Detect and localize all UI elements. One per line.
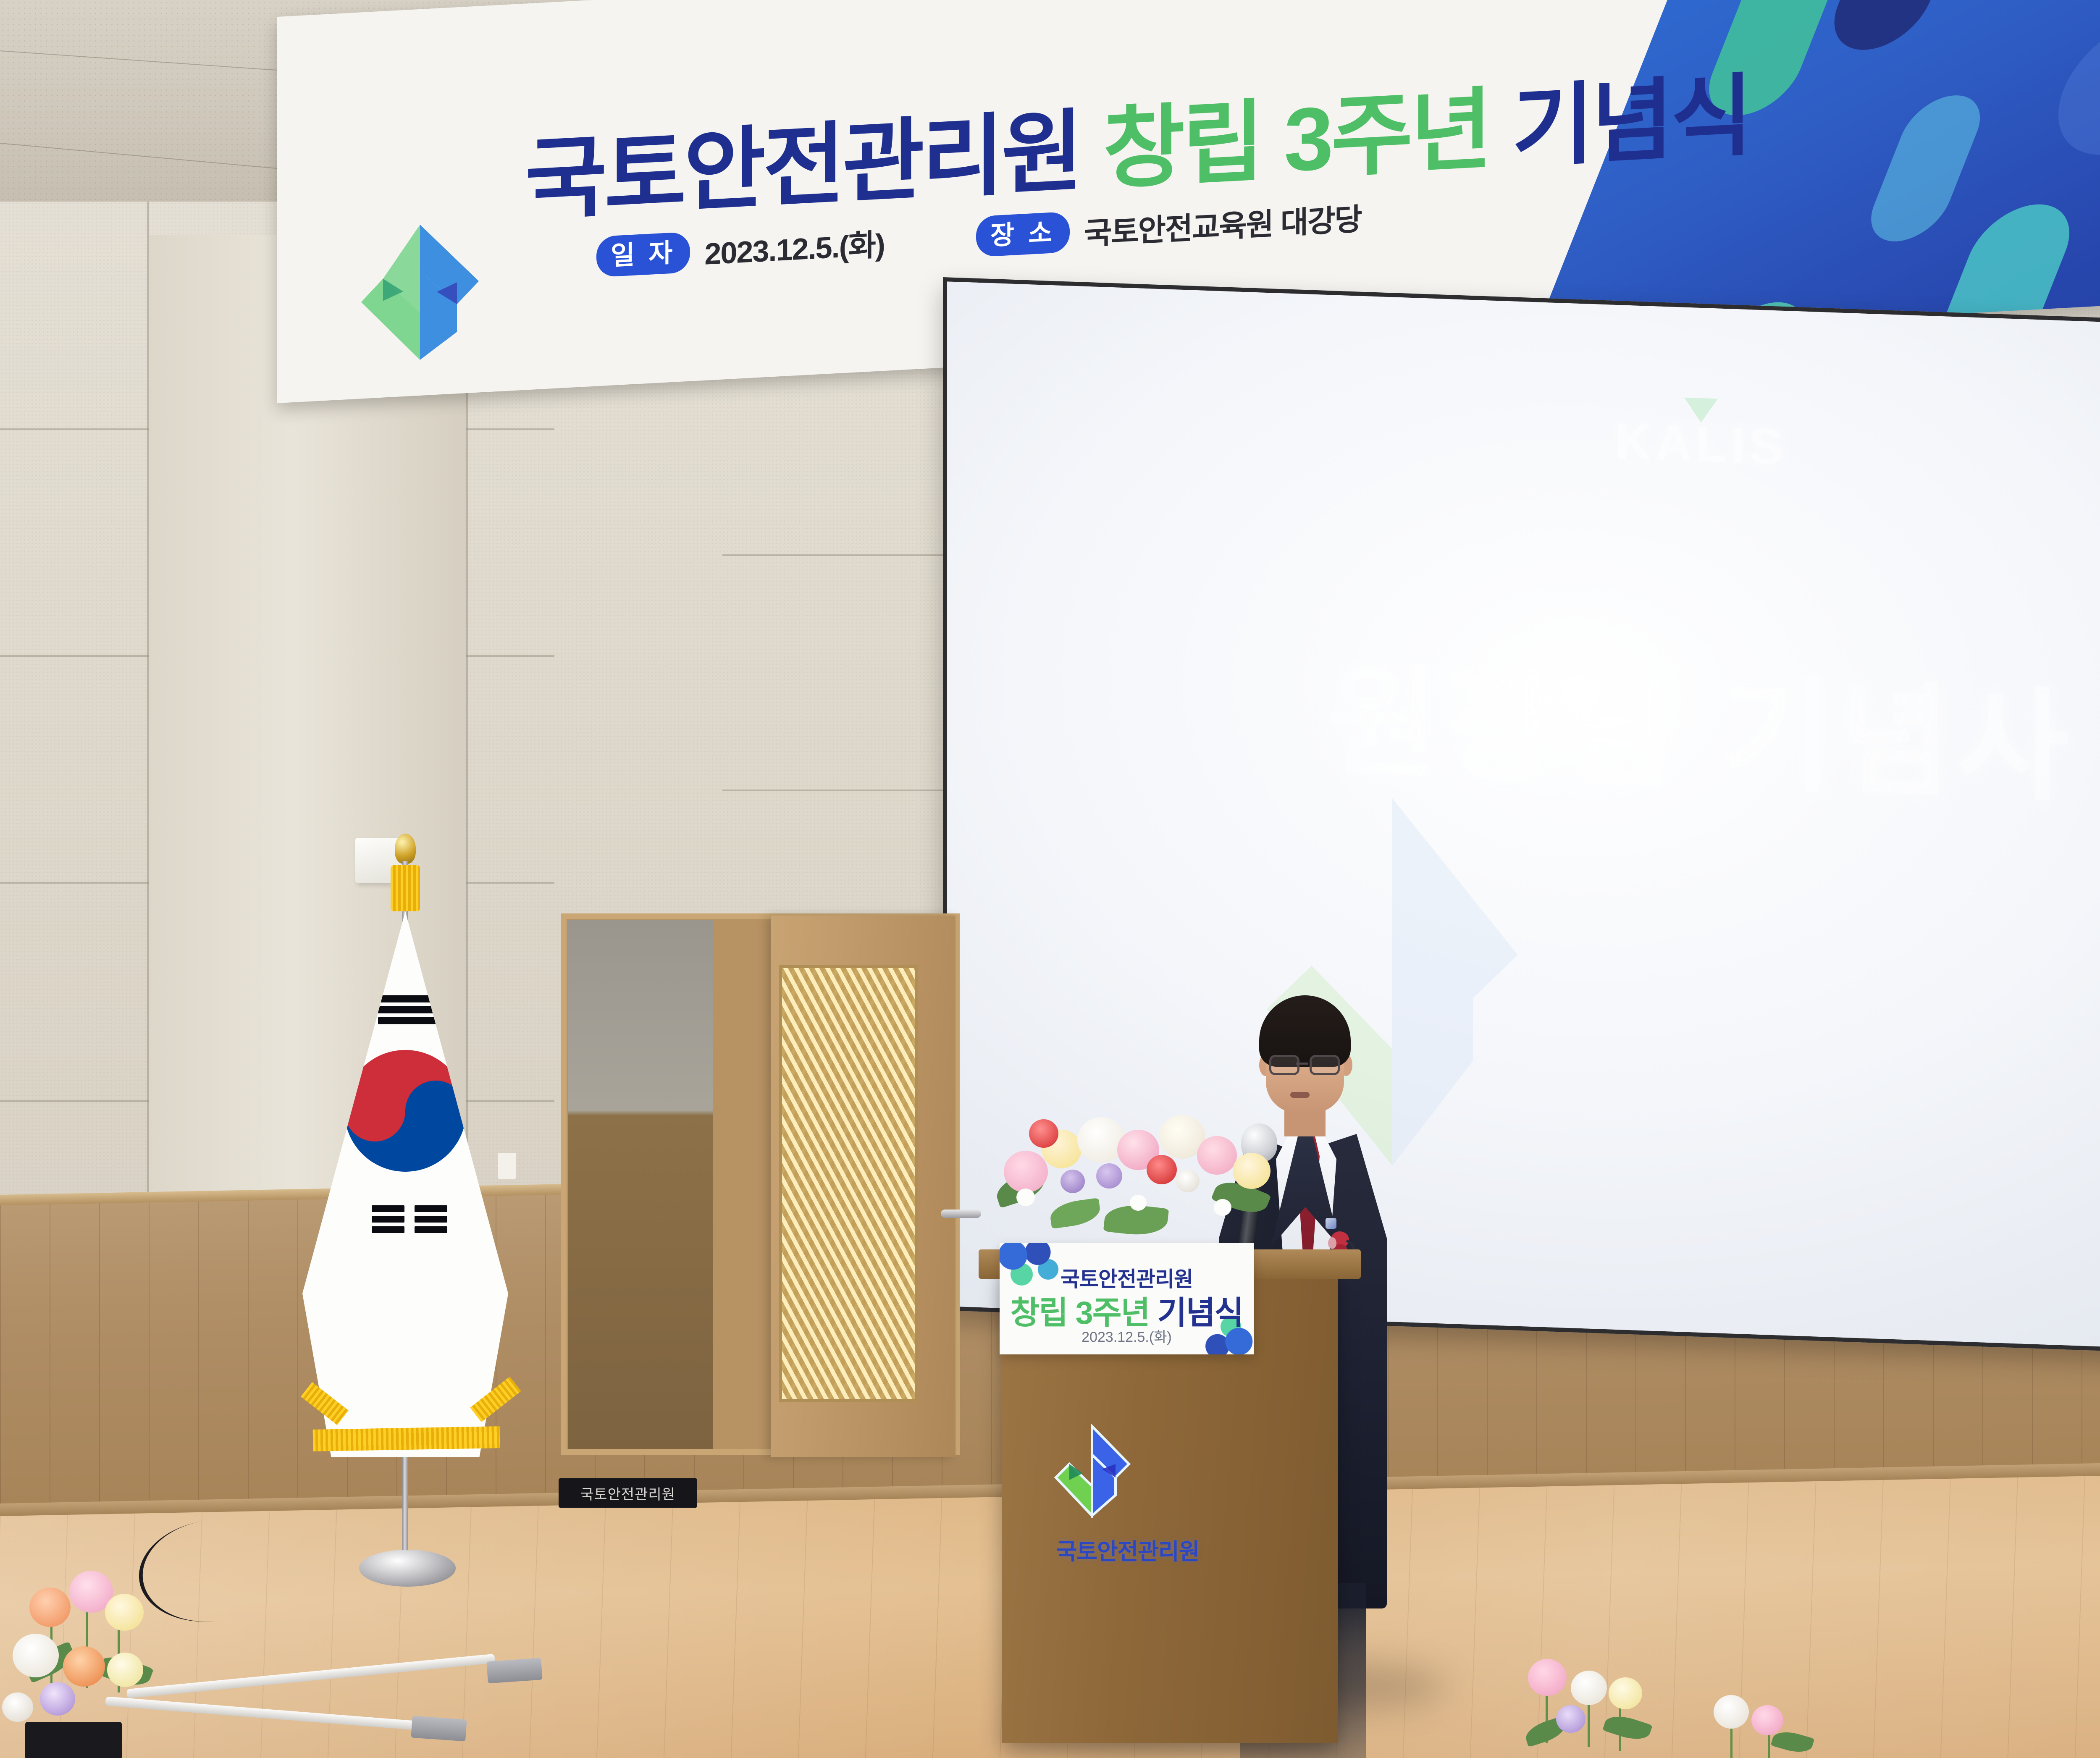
cable-anchor-plate bbox=[411, 1716, 467, 1742]
door-handle[interactable] bbox=[941, 1210, 981, 1218]
door-sign: 국토안전관리원 bbox=[559, 1478, 697, 1508]
banner-pill-shape bbox=[1819, 0, 1983, 52]
eyeglasses-right-lens bbox=[1310, 1055, 1340, 1075]
kalis-arrow-logo bbox=[357, 218, 483, 363]
lapel-pin bbox=[1326, 1218, 1336, 1229]
banner-title-anniversary: 창립 3주년 bbox=[1103, 79, 1490, 199]
wall-outlet-small bbox=[498, 1153, 516, 1179]
podium-flower-bouquet bbox=[979, 1100, 1289, 1268]
flagpole-finial bbox=[395, 834, 416, 864]
banner-title-org: 국토안전관리원 bbox=[525, 101, 1081, 231]
mouth bbox=[1290, 1092, 1310, 1098]
floor-flower-bouquet-right2 bbox=[1697, 1692, 1823, 1758]
flag-gold-fringe bbox=[313, 1426, 500, 1451]
kalis-arrow-logo bbox=[1050, 1424, 1134, 1518]
photo-scene: 국토안전관리원 창립 3주년 기념식 일 자 2023.12.5.(화) 장 소… bbox=[0, 0, 2100, 1758]
podium-sign-date: 2023.12.5.(화) bbox=[1000, 1325, 1254, 1346]
flag-gold-tassel bbox=[391, 865, 420, 911]
date-value: 2023.12.5.(화) bbox=[704, 220, 885, 273]
floor-flower-bouquet-right bbox=[1508, 1650, 1667, 1758]
trigram-gon bbox=[372, 1205, 447, 1234]
podium-front-label: 국토안전관리원 bbox=[1004, 1533, 1252, 1566]
flower-pot bbox=[25, 1722, 122, 1758]
banner-title-ceremony: 기념식 bbox=[1512, 66, 1750, 178]
date-chip: 일 자 bbox=[596, 232, 690, 278]
cable-anchor-plate bbox=[486, 1658, 542, 1684]
eyeglasses-left-lens bbox=[1269, 1055, 1299, 1075]
door-sign-label: 국토안전관리원 bbox=[580, 1483, 675, 1503]
door-textured-glass-panel bbox=[779, 965, 918, 1402]
banner-pill-shape bbox=[1859, 93, 1992, 243]
open-doorway bbox=[568, 920, 713, 1449]
flag-stand-base bbox=[359, 1550, 456, 1587]
wooden-door[interactable] bbox=[771, 916, 955, 1457]
eyeglasses-bridge bbox=[1296, 1063, 1308, 1065]
place-chip: 장 소 bbox=[976, 211, 1070, 257]
banner-pill-shape bbox=[2037, 10, 2100, 158]
